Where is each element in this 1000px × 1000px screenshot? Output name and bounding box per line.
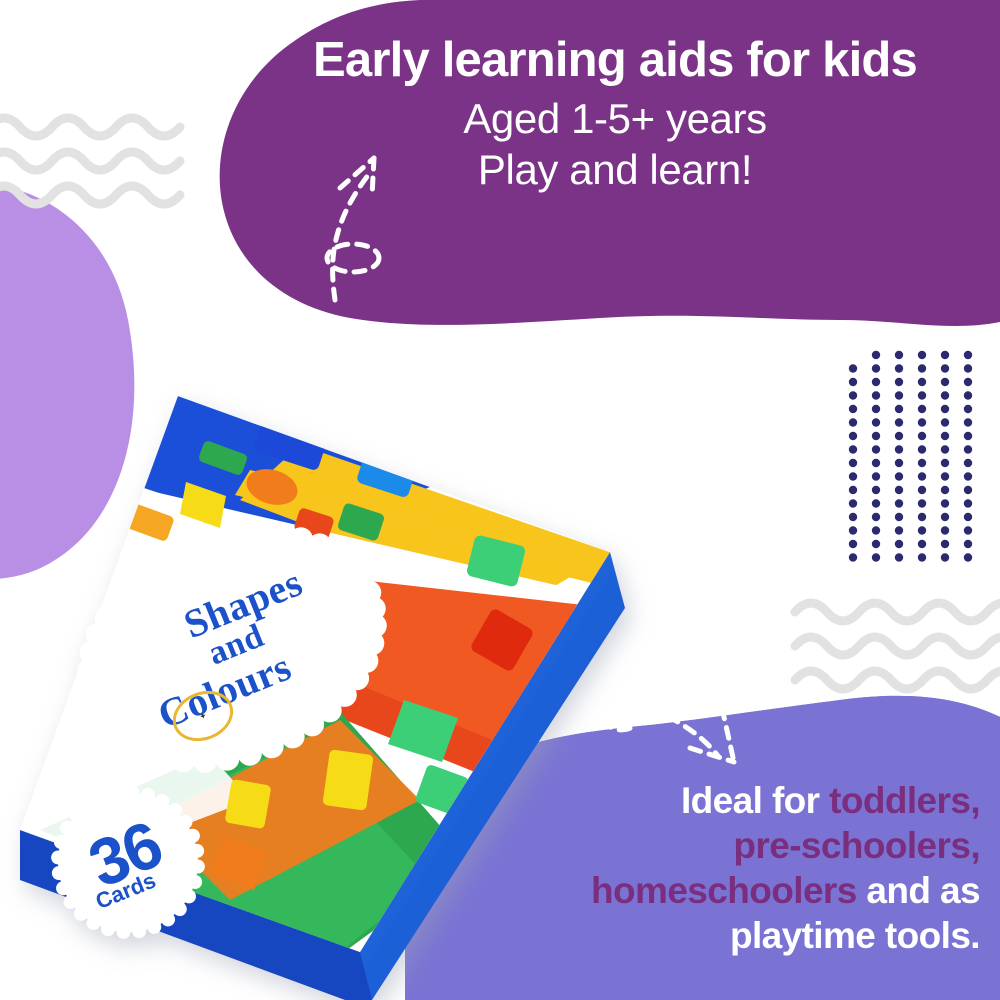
promo-banner: Shapes and Colours ✦ 36 Cards Early lear… xyxy=(0,0,1000,1000)
brand-logo-mark: ✦ xyxy=(198,710,208,721)
page-title: Early learning aids for kids xyxy=(250,34,980,87)
promo-line-4: playtime tools. xyxy=(470,913,980,958)
subheadline-age: Aged 1-5+ years xyxy=(250,93,980,144)
promo-text-block: Ideal for toddlers, pre-schoolers, homes… xyxy=(470,778,980,959)
promo-line-2: pre-schoolers, xyxy=(470,823,980,868)
headline-block: Early learning aids for kids Aged 1-5+ y… xyxy=(250,34,980,195)
promo-line-3: homeschoolers and as xyxy=(470,868,980,913)
promo-line-1: Ideal for toddlers, xyxy=(470,778,980,823)
subheadline-cta: Play and learn! xyxy=(250,144,980,195)
